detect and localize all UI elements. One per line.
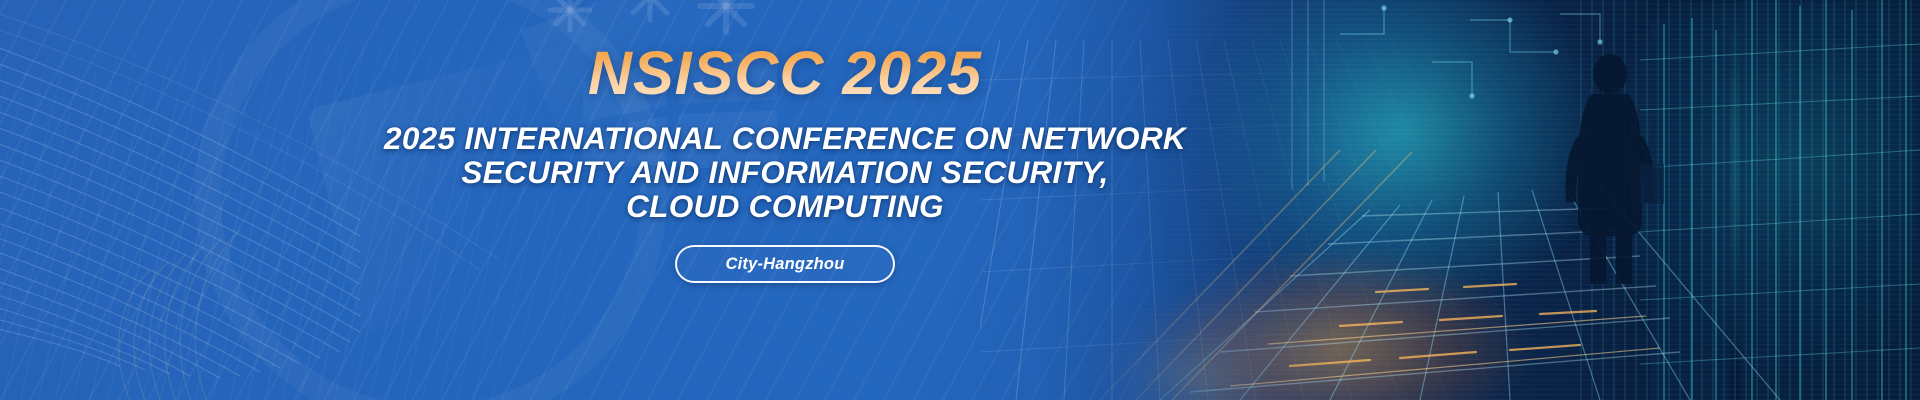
conference-subtitle: 2025 INTERNATIONAL CONFERENCE ON NETWORK… (384, 121, 1186, 223)
banner-content: NSISCC 2025 2025 INTERNATIONAL CONFERENC… (0, 0, 1570, 400)
city-badge[interactable]: City-Hangzhou (675, 245, 895, 283)
subtitle-line-1: 2025 INTERNATIONAL CONFERENCE ON NETWORK (384, 121, 1186, 155)
conference-banner: NSISCC 2025 2025 INTERNATIONAL CONFERENC… (0, 0, 1920, 400)
page-title: NSISCC 2025 (588, 38, 982, 108)
subtitle-line-2: SECURITY AND INFORMATION SECURITY, (384, 155, 1186, 189)
subtitle-line-3: CLOUD COMPUTING (384, 189, 1186, 223)
